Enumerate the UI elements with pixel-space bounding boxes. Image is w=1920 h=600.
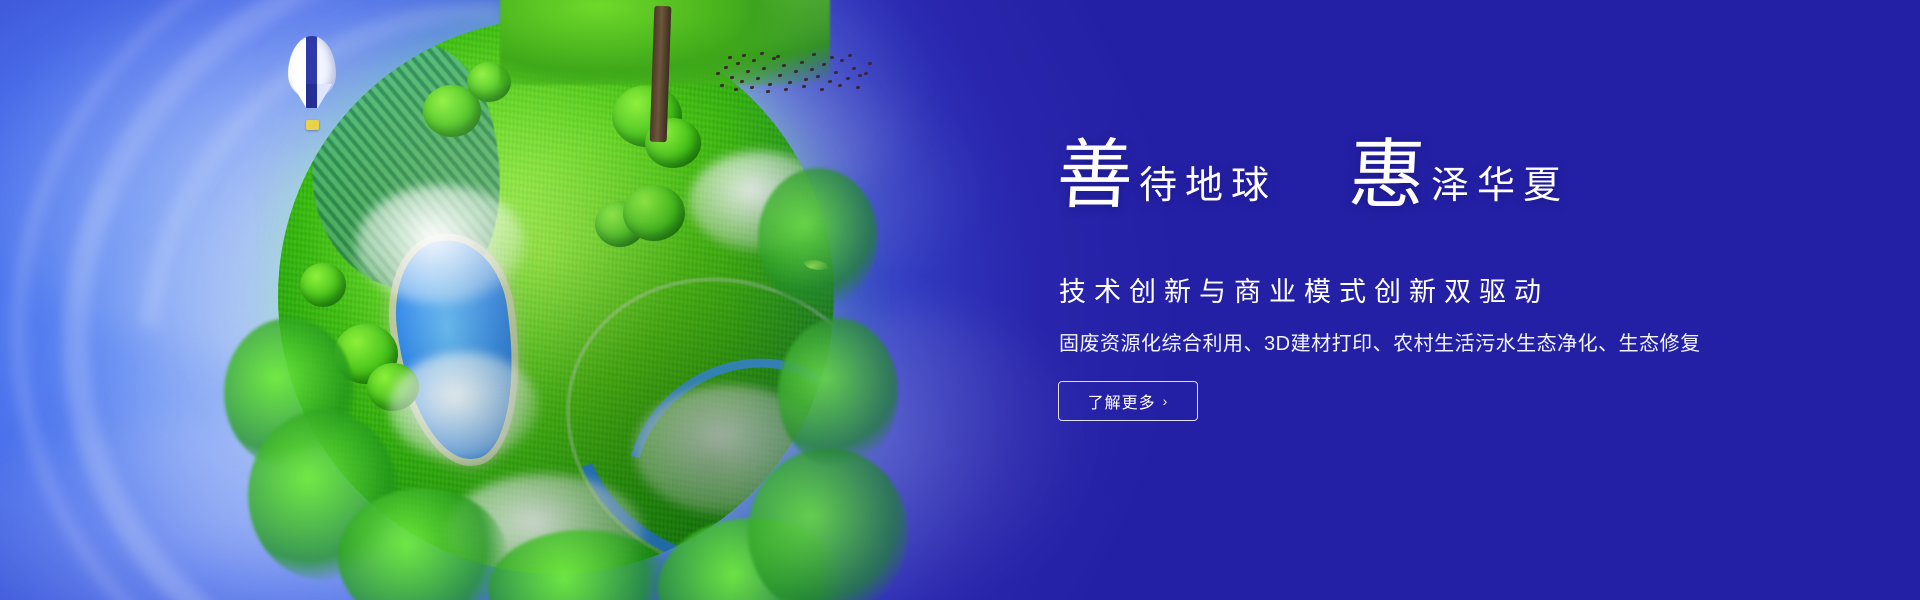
chevron-right-icon: › [1163,394,1169,408]
headline-big-char-1: 善 [1055,140,1135,210]
headline-phrase-1: 善 待地球 [1057,140,1277,210]
headline-phrase-2: 惠 泽华夏 [1349,140,1569,210]
hero-banner: 善 待地球 惠 泽华夏 技术创新与商业模式创新双驱动 固废资源化综合利用、3D建… [0,0,1920,600]
learn-more-button[interactable]: 了解更多 › [1058,381,1198,421]
learn-more-label: 了解更多 [1088,389,1156,413]
headline-big-char-2: 惠 [1347,140,1427,210]
headline-small-chars-1: 待地球 [1139,166,1277,210]
subtitle: 技术创新与商业模式创新双驱动 [1059,270,1549,309]
headline-small-chars-2: 泽华夏 [1431,166,1569,210]
hero-content: 善 待地球 惠 泽华夏 技术创新与商业模式创新双驱动 固废资源化综合利用、3D建… [1057,0,1797,600]
description-text: 固废资源化综合利用、3D建材打印、农村生活污水生态净化、生态修复 [1059,327,1701,356]
page-title: 善 待地球 惠 泽华夏 [1057,140,1569,210]
